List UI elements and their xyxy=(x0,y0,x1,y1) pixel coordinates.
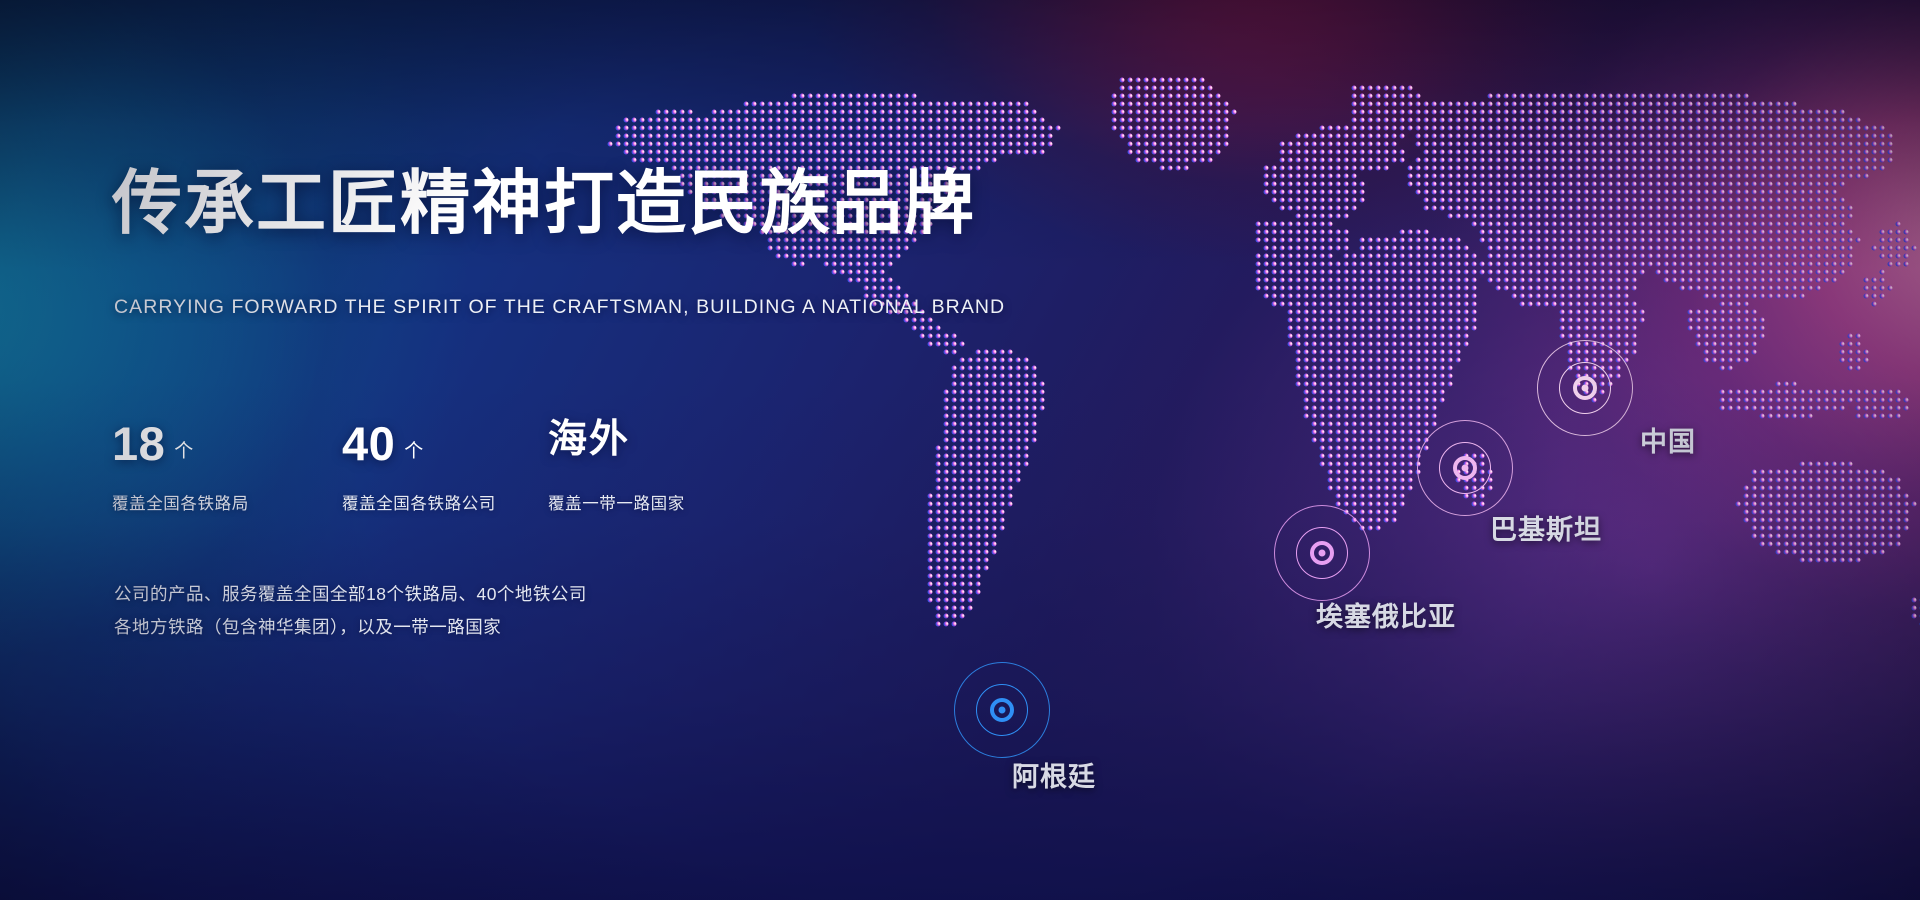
stat-description: 覆盖全国各铁路局 xyxy=(112,490,342,514)
paragraph-line: 公司的产品、服务覆盖全国全部18个铁路局、40个地铁公司 xyxy=(114,578,587,611)
description-paragraph: 公司的产品、服务覆盖全国全部18个铁路局、40个地铁公司 各地方铁路（包含神华集… xyxy=(114,578,587,644)
stat-description: 覆盖全国各铁路公司 xyxy=(342,490,548,514)
map-marker-label: 中国 xyxy=(1640,420,1696,459)
paragraph-line: 各地方铁路（包含神华集团），以及一带一路国家 xyxy=(114,611,587,644)
map-marker[interactable]: 阿根廷 xyxy=(942,650,1062,770)
stat-item: 海外 覆盖一带一路国家 xyxy=(548,420,768,514)
stat-item: 18 个 覆盖全国各铁路局 xyxy=(112,420,342,514)
stat-value-row: 海外 xyxy=(548,420,768,474)
stats-row: 18 个 覆盖全国各铁路局 40 个 覆盖全国各铁路公司 海外 覆盖一带一路国家 xyxy=(112,420,768,514)
banner-stage: 中国巴基斯坦埃塞俄比亚阿根廷 传承工匠精神打造民族品牌 CARRYING FOR… xyxy=(0,0,1920,900)
map-marker[interactable]: 中国 xyxy=(1525,328,1645,448)
map-marker-label: 埃塞俄比亚 xyxy=(1316,595,1456,634)
map-marker-label: 阿根廷 xyxy=(1012,755,1096,794)
stat-item: 40 个 覆盖全国各铁路公司 xyxy=(342,420,548,514)
marker-center-dot xyxy=(1582,385,1589,392)
page-title: 传承工匠精神打造民族品牌 xyxy=(112,168,976,238)
stat-unit: 个 xyxy=(174,436,193,463)
map-marker-label: 巴基斯坦 xyxy=(1490,508,1602,547)
stat-value-row: 40 个 xyxy=(342,420,548,474)
map-marker[interactable]: 巴基斯坦 xyxy=(1405,408,1525,528)
stat-value-row: 18 个 xyxy=(112,420,342,474)
stat-value: 海外 xyxy=(548,420,630,459)
stat-value: 18 xyxy=(112,420,165,467)
content-block: 传承工匠精神打造民族品牌 CARRYING FORWARD THE SPIRIT… xyxy=(112,0,932,900)
page-subtitle: CARRYING FORWARD THE SPIRIT OF THE CRAFT… xyxy=(114,296,1005,319)
marker-center-dot xyxy=(1319,550,1326,557)
stat-description: 覆盖一带一路国家 xyxy=(548,490,768,514)
map-marker[interactable]: 埃塞俄比亚 xyxy=(1262,493,1382,613)
marker-center-dot xyxy=(1462,465,1469,472)
marker-center-dot xyxy=(999,707,1006,714)
stat-unit: 个 xyxy=(404,436,423,463)
stat-value: 40 xyxy=(342,420,395,467)
